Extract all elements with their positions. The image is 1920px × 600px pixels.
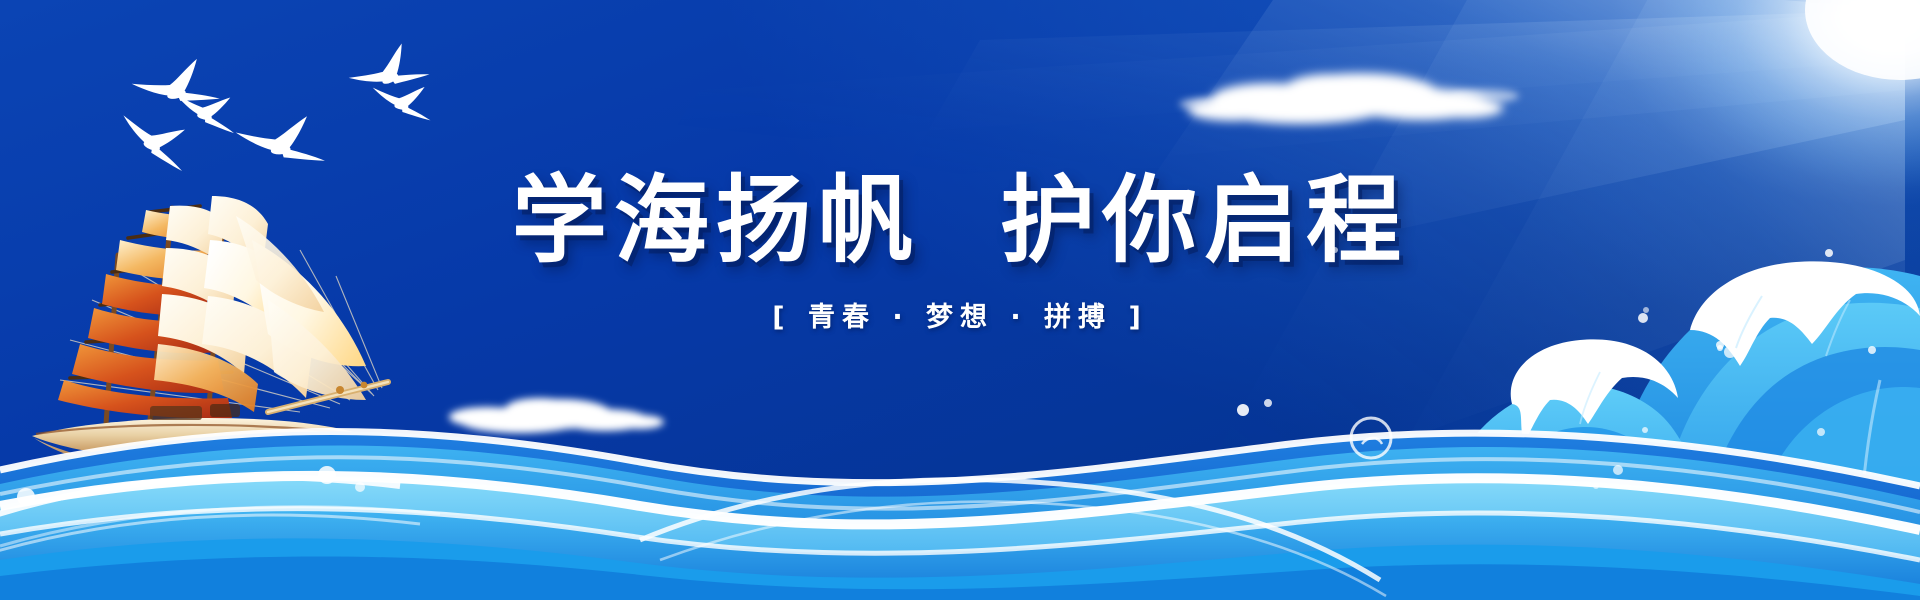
page-title: 学海扬帆 护你启程	[0, 172, 1920, 272]
ship-reflection	[40, 470, 360, 502]
ship-sails-left	[58, 210, 232, 418]
cloud-lower-center	[449, 398, 664, 433]
ship-jib-sails	[236, 216, 366, 400]
bird-2	[171, 88, 240, 133]
page-subtitle: [ 青春 · 梦想 · 拼搏 ]	[0, 295, 1920, 334]
ship-sails-center	[154, 206, 258, 412]
wave-bands	[0, 432, 1920, 600]
ship-spars	[70, 206, 232, 378]
bird-6	[370, 81, 434, 120]
sun-glow-hot	[1805, 0, 1920, 80]
wave-curl-mid-right	[1430, 339, 1710, 600]
sun-rays-layer	[0, 0, 1920, 600]
birds-layer	[0, 0, 1920, 600]
wave-curl-small-right	[1320, 454, 1476, 600]
ship-rigging	[60, 215, 382, 412]
cloud-upper-right-wisps	[1179, 89, 1519, 110]
sun-ray-beams	[660, 0, 1905, 600]
wave-circle-accent	[1351, 418, 1391, 458]
wave-arcs-left	[0, 477, 420, 556]
bird-1	[130, 56, 220, 119]
ship-masts	[106, 208, 222, 424]
ship-hull	[32, 404, 368, 476]
sailing-ship	[32, 196, 388, 502]
ship-bowsprit	[268, 382, 388, 412]
bubbles	[17, 247, 1876, 506]
bird-5	[345, 39, 429, 107]
text-block: 学海扬帆 护你启程 [ 青春 · 梦想 · 拼搏 ]	[0, 0, 1920, 600]
wave-ribbon-crossing	[0, 480, 1386, 596]
bird-3	[112, 108, 195, 171]
sun-glow-core	[1658, 0, 1920, 189]
clouds-layer	[0, 0, 1920, 600]
sailing-ship-layer	[0, 0, 1920, 600]
bird-4	[235, 115, 325, 170]
ship-sails-right	[202, 196, 312, 398]
cloud-upper-right	[1188, 73, 1503, 124]
waves-layer	[0, 0, 1920, 600]
wave-curl-large-right	[1607, 261, 1920, 600]
banner-root: 学海扬帆 护你启程 [ 青春 · 梦想 · 拼搏 ]	[0, 0, 1920, 600]
